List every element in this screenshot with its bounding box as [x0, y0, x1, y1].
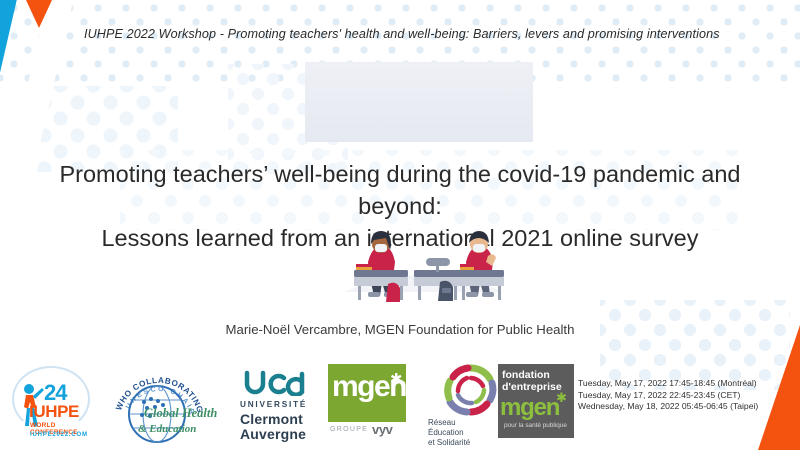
- fondation-line-1: fondation: [502, 369, 550, 381]
- res-line-2: Éducation: [428, 428, 464, 437]
- res-swirl-icon: [440, 362, 502, 418]
- uca-mark-icon: [244, 370, 306, 396]
- presentation-slide: IUHPE 2022 Workshop - Promoting teachers…: [0, 0, 800, 450]
- res-line-3: et Solidarité: [428, 438, 470, 447]
- logo-who-collaborating-center: WHO COLLABORATING CENTER UNESCO CHAIR Gl…: [100, 358, 218, 450]
- who-education-text: & Education: [138, 423, 196, 435]
- uca-region-label: Auvergne: [240, 426, 306, 442]
- iuhpe-name: IUHPE: [29, 402, 79, 422]
- fondation-mgen-wordmark: mgen: [500, 394, 559, 422]
- schedule-line-cet: Tuesday, May 17, 2022 22:45-23:45 (CET): [578, 390, 758, 402]
- schedule-block: Tuesday, May 17, 2022 17:45-18:45 (Montr…: [578, 378, 758, 413]
- logo-iuhpe: 24 IUHPE WORLD CONFERENCE IUHPE2022.COM: [8, 360, 90, 448]
- fondation-gray-box: fondation d'entreprise mgen ✱ pour la sa…: [498, 364, 574, 438]
- schedule-line-taipei: Wednesday, May 18, 2022 05:45-06:45 (Tai…: [578, 401, 758, 413]
- classroom-illustration: [340, 222, 508, 306]
- logo-uca: UNIVERSITÉ Clermont Auvergne: [228, 370, 320, 446]
- uca-city-label: Clermont: [240, 411, 303, 427]
- illustration-backdrop: [305, 62, 533, 142]
- teachers-group-illustration: [305, 62, 533, 142]
- logo-mgen: mgen ✱ GROUPE vyv: [328, 364, 424, 446]
- fondation-star-icon: ✱: [556, 390, 567, 406]
- who-global-health-text: Global Health: [144, 406, 217, 421]
- schedule-line-montreal: Tuesday, May 17, 2022 17:45-18:45 (Montr…: [578, 378, 758, 390]
- classroom-svg: [340, 222, 508, 306]
- orange-triangle-top-icon: [26, 0, 52, 28]
- logo-fondation-mgen: fondation d'entreprise mgen ✱ pour la sa…: [498, 364, 578, 446]
- uca-universite-label: UNIVERSITÉ: [240, 400, 307, 409]
- mgen-vyv-label: vyv: [372, 422, 393, 437]
- who-globe-icon: WHO COLLABORATING CENTER UNESCO CHAIR: [100, 358, 218, 450]
- logo-strip: 24 IUHPE WORLD CONFERENCE IUHPE2022.COM …: [0, 356, 580, 450]
- author-line: Marie-Noël Vercambre, MGEN Foundation fo…: [40, 322, 760, 337]
- iuhpe-url: IUHPE2022.COM: [30, 432, 88, 438]
- mgen-star-icon: ✱: [390, 370, 403, 388]
- title-line-1: Promoting teachers’ well-being during th…: [59, 161, 740, 219]
- orange-triangle-bottom-icon: [758, 325, 800, 450]
- mgen-green-box: mgen ✱: [328, 364, 406, 422]
- slide-header: IUHPE 2022 Workshop - Promoting teachers…: [84, 27, 774, 41]
- mgen-groupe-label: GROUPE: [330, 426, 368, 433]
- fondation-subtitle: pour la santé publique: [504, 422, 567, 429]
- fondation-line-2: d'entreprise: [502, 381, 562, 393]
- res-line-1: Réseau: [428, 418, 456, 427]
